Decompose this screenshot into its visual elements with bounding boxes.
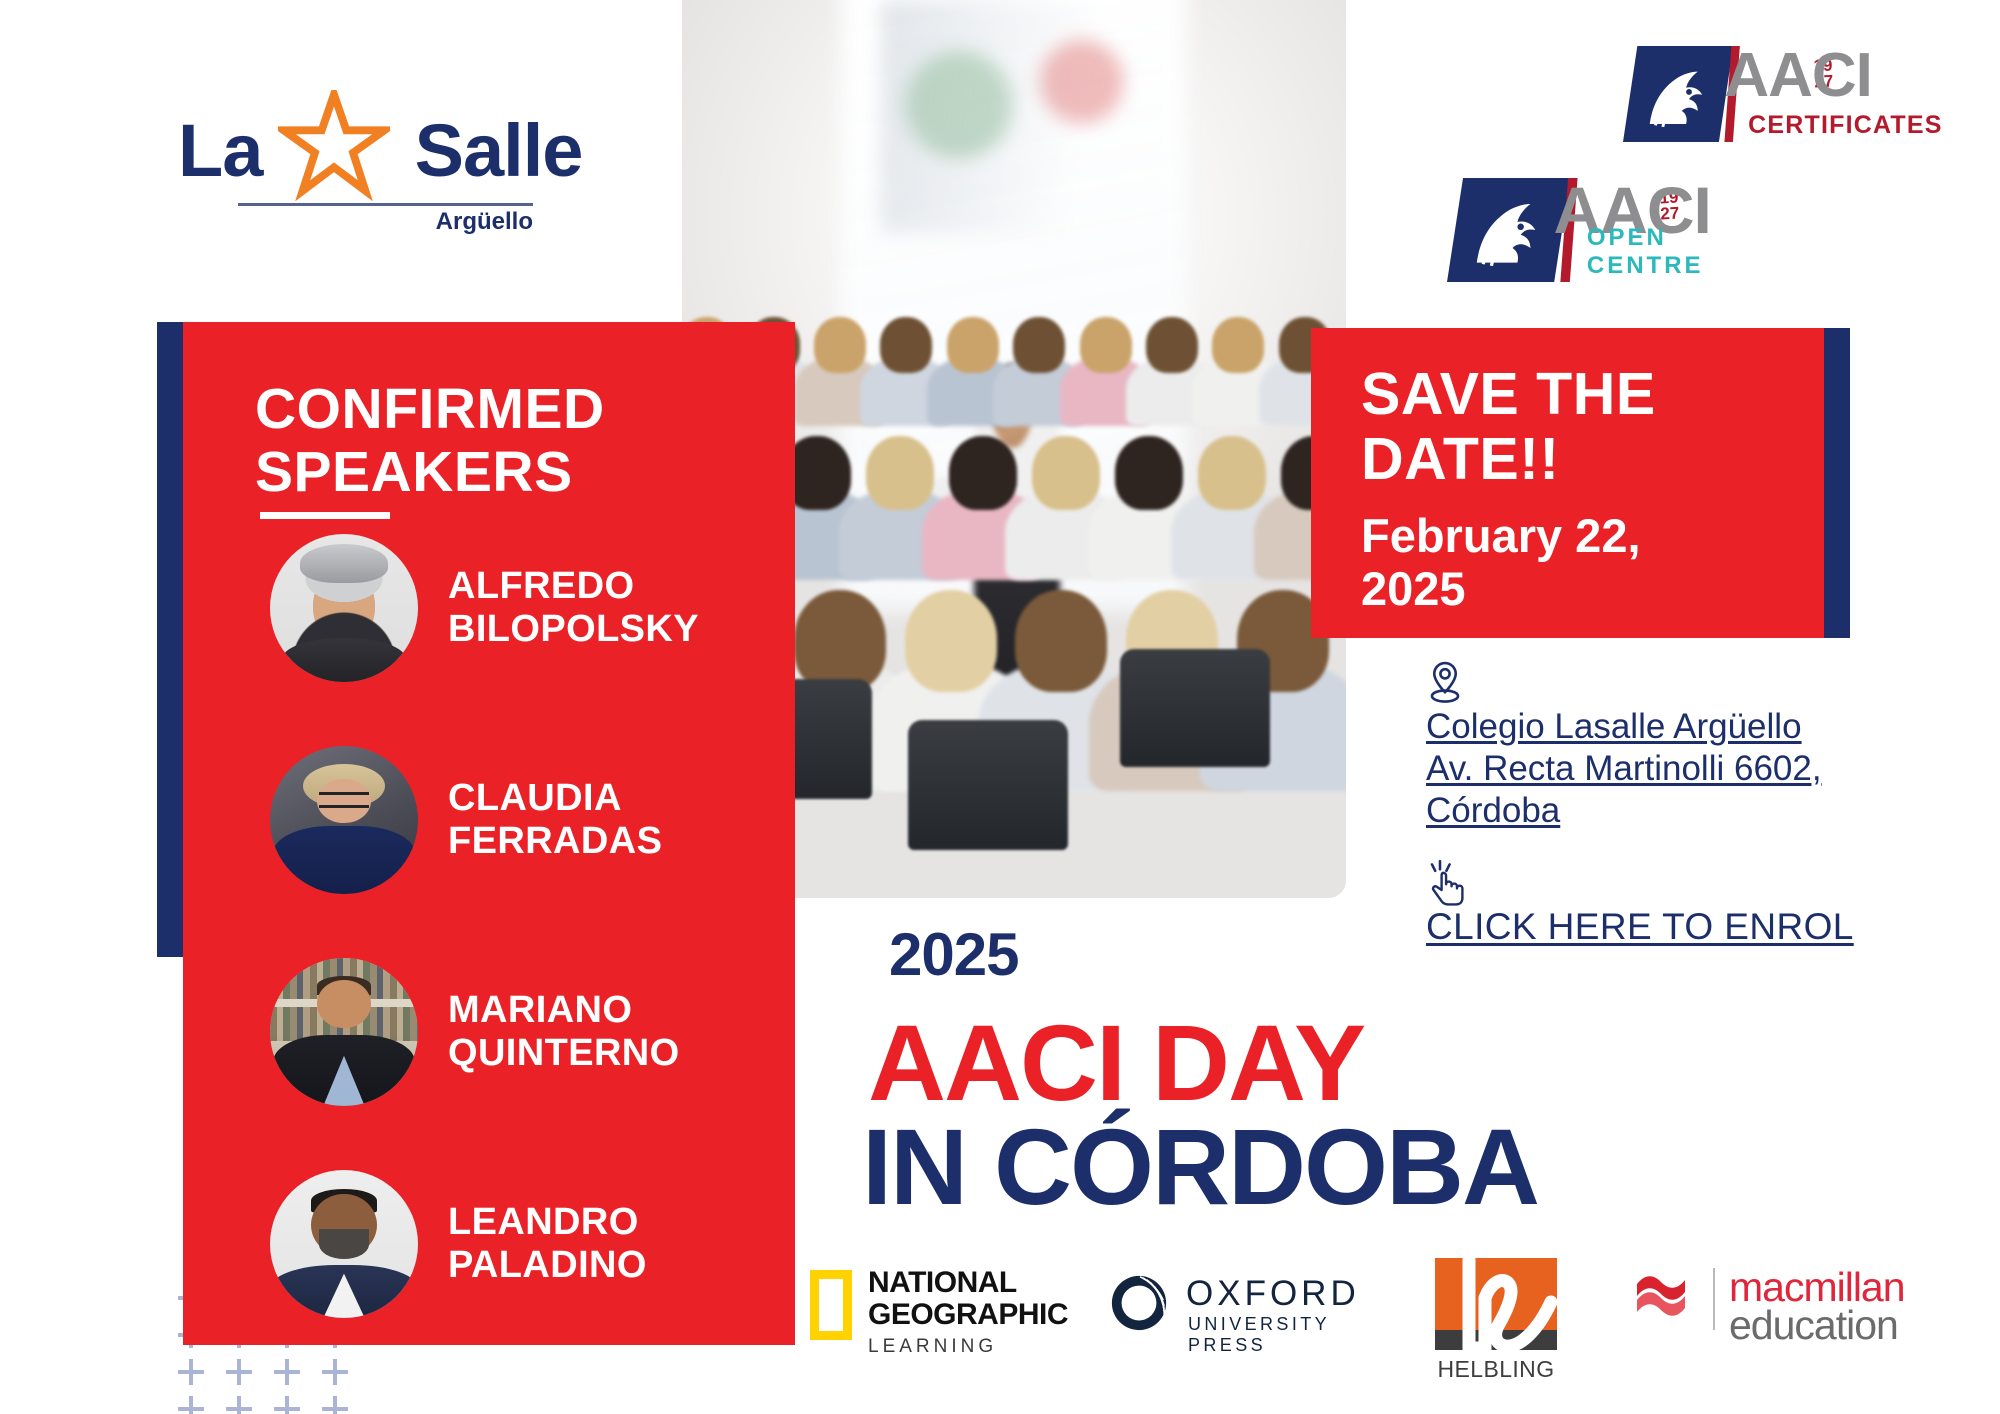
- plus-mark: [178, 1396, 204, 1414]
- audience-member-head: [1032, 436, 1100, 510]
- sponsor-logo-row: NATIONAL GEOGRAPHIC LEARNING OXFORD UNIV…: [810, 1258, 1930, 1398]
- la-salle-campus-label: Argüello: [436, 208, 533, 236]
- plus-mark: [274, 1396, 300, 1414]
- venue-line-1: Colegio Lasalle Argüello: [1426, 707, 1802, 746]
- std-title-line-1: SAVE THE: [1361, 362, 1791, 427]
- confirmed-speakers-panel: CONFIRMED SPEAKERS ALFREDO BILOPOLSKY CL…: [183, 322, 795, 1345]
- heading-line-2: SPEAKERS: [255, 441, 735, 504]
- macmillan-flag-icon: [1635, 1270, 1699, 1320]
- speaker-row: LEANDRO PALADINO: [183, 1170, 795, 1318]
- event-date: February 22, 2025: [1361, 510, 1781, 615]
- audience-member-head: [1013, 317, 1065, 373]
- speaker-avatar: [270, 958, 418, 1106]
- save-the-date-box: SAVE THE DATE!! February 22, 2025: [1311, 328, 1824, 638]
- speaker-last-name: PALADINO: [448, 1244, 778, 1287]
- aaci-tagline: CERTIFICATES: [1748, 111, 1943, 140]
- heading-line-1: CONFIRMED: [255, 378, 735, 441]
- macmillan-line-2: education: [1729, 1302, 1898, 1349]
- audience-member-head: [880, 317, 932, 373]
- oup-line-2: UNIVERSITY PRESS: [1188, 1314, 1408, 1356]
- event-title-secondary: IN CÓRDOBA: [862, 1104, 1538, 1229]
- speaker-first-name: ALFREDO: [448, 565, 778, 608]
- lion-head-icon: [1641, 56, 1714, 137]
- speaker-avatar: [270, 534, 418, 682]
- audience-member-head: [947, 317, 999, 373]
- venue-line-3: Córdoba: [1426, 791, 1560, 830]
- helbling-mark-icon: [1435, 1258, 1557, 1350]
- event-year: 2025: [889, 920, 1018, 989]
- natgeo-yellow-frame-icon: [810, 1270, 852, 1340]
- audience-member-head: [1115, 436, 1183, 510]
- venue-address-link[interactable]: Colegio Lasalle Argüello Av. Recta Marti…: [1426, 707, 1822, 830]
- std-title-line-2: DATE!!: [1361, 427, 1791, 492]
- speaker-name: ALFREDO BILOPOLSKY: [448, 565, 778, 652]
- photo-slide-content: [881, 0, 1160, 233]
- speaker-avatar: [270, 1170, 418, 1318]
- star-icon: [278, 90, 390, 202]
- heading-divider-rule: [260, 512, 390, 519]
- speaker-name: MARIANO QUINTERNO: [448, 989, 778, 1076]
- speaker-first-name: MARIANO: [448, 989, 778, 1032]
- plus-mark: [226, 1359, 252, 1385]
- natgeo-line-1: NATIONAL: [868, 1266, 1017, 1300]
- plus-mark: [322, 1359, 348, 1385]
- speaker-name: CLAUDIA FERRADAS: [448, 777, 778, 864]
- helbling-wordmark: HELBLING: [1435, 1356, 1557, 1383]
- aaci-lion-icon: [1447, 178, 1570, 282]
- aaci-open-centre-logo: 19 27 AACI OPEN CENTRE: [1447, 178, 1780, 282]
- audience-member-head: [1146, 317, 1198, 373]
- audience-member-head: [905, 590, 997, 692]
- event-date-line-1: February 22,: [1361, 510, 1781, 563]
- speaker-first-name: LEANDRO: [448, 1201, 778, 1244]
- la-salle-divider: [238, 203, 533, 206]
- speaker-last-name: FERRADAS: [448, 820, 778, 863]
- oxford-emblem-icon: [1108, 1272, 1170, 1334]
- click-hand-icon: [1426, 858, 1470, 906]
- audience-member-head: [794, 590, 886, 692]
- audience-member-head: [866, 436, 934, 510]
- aaci-lion-icon: [1623, 46, 1733, 142]
- audience-member-head: [1080, 317, 1132, 373]
- audience-member-head: [1212, 317, 1264, 373]
- oup-line-1: OXFORD: [1186, 1274, 1360, 1314]
- aaci-tagline: OPEN CENTRE: [1587, 224, 1780, 280]
- location-pin-icon: [1426, 660, 1464, 706]
- speaker-name: LEANDRO PALADINO: [448, 1201, 778, 1288]
- plus-mark: [178, 1359, 204, 1385]
- macmillan-divider: [1713, 1268, 1715, 1330]
- speaker-row: ALFREDO BILOPOLSKY: [183, 534, 795, 682]
- confirmed-speakers-heading: CONFIRMED SPEAKERS: [255, 378, 735, 503]
- speaker-avatar: [270, 746, 418, 894]
- save-the-date-navy-accent: [1824, 328, 1850, 638]
- plus-mark: [274, 1359, 300, 1385]
- audience-member-head: [1015, 590, 1107, 692]
- la-salle-logo: La__Salle Argüello: [178, 96, 533, 236]
- speaker-last-name: QUINTERNO: [448, 1032, 778, 1075]
- speaker-row: CLAUDIA FERRADAS: [183, 746, 795, 894]
- audience-member-head: [1198, 436, 1266, 510]
- aaci-wordmark: AACI: [1724, 40, 1872, 111]
- natgeo-line-3: LEARNING: [868, 1336, 997, 1358]
- audience-member-head: [949, 436, 1017, 510]
- helbling-logo: HELBLING: [1435, 1258, 1569, 1383]
- plus-mark: [322, 1396, 348, 1414]
- enrol-link[interactable]: CLICK HERE TO ENROL: [1426, 906, 1854, 947]
- venue-and-enrol-block: Colegio Lasalle Argüello Av. Recta Marti…: [1426, 660, 1866, 948]
- la-salle-word-la: La: [178, 109, 262, 192]
- event-date-line-2: 2025: [1361, 563, 1781, 616]
- venue-line-2: Av. Recta Martinolli 6602,: [1426, 749, 1822, 788]
- speaker-last-name: BILOPOLSKY: [448, 608, 778, 651]
- audience-member-head: [814, 317, 866, 373]
- aaci-certificates-logo: 19 27 AACI CERTIFICATES: [1623, 46, 1921, 142]
- speaker-first-name: CLAUDIA: [448, 777, 778, 820]
- speaker-row: MARIANO QUINTERNO: [183, 958, 795, 1106]
- auditorium-chair: [1120, 649, 1270, 767]
- lion-head-icon: [1467, 188, 1548, 275]
- natgeo-line-2: GEOGRAPHIC: [868, 1298, 1068, 1332]
- auditorium-chair: [908, 720, 1068, 850]
- poster-canvas: CONFIRMED SPEAKERS ALFREDO BILOPOLSKY CL…: [0, 0, 2000, 1414]
- plus-mark: [226, 1396, 252, 1414]
- la-salle-word-salle: Salle: [415, 109, 583, 192]
- save-the-date-title: SAVE THE DATE!!: [1361, 362, 1791, 492]
